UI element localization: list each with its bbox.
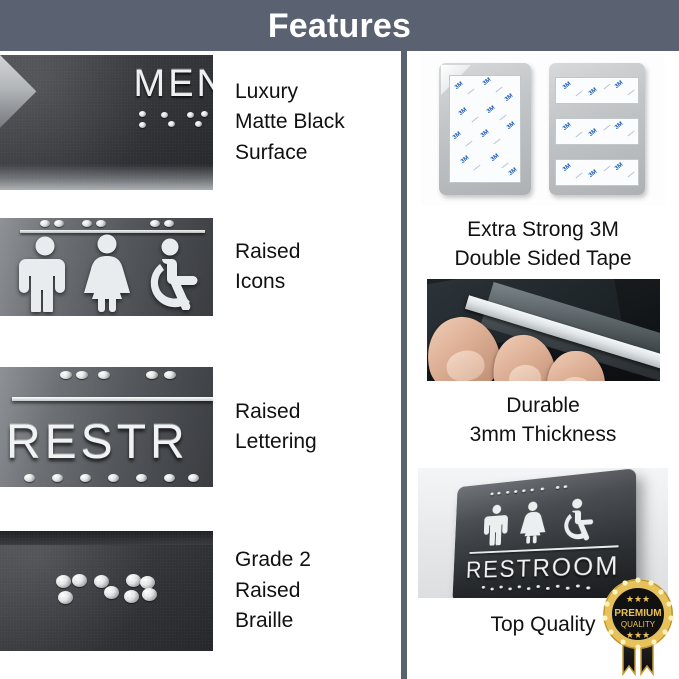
sign-divider-line [20,230,205,233]
caption-line: Double Sided Tape [407,244,679,273]
fingernail [444,347,487,381]
feature-label-line: Braille [235,606,311,636]
sign-divider-line [12,397,213,401]
tape-sheet: 3M 3M 3M 3M 3M 3M 3M 3M 3M 3M 3M [449,75,521,183]
feature-label-grade2-braille: Grade 2 Raised Braille [235,545,311,636]
feature-label-line: Matte Black [235,107,345,137]
badge-stars-top: ★★★ [626,594,650,604]
feature-image-raised-lettering: RESTR [0,367,213,487]
tape-brand-label: 3M [562,122,572,132]
sign-top-edge [0,531,213,545]
caption-line: 3mm Thickness [407,420,679,449]
feature-image-thickness [427,279,660,381]
tape-brand-label: 3M [504,93,514,103]
tape-brand-label: 3M [490,153,500,163]
sign-lettering-restroom: RESTROOM [465,551,619,584]
feature-label-raised-icons: Raised Icons [235,237,300,298]
badge-line-1: PREMIUM [614,608,661,619]
feature-label-line: Luxury [235,77,345,107]
left-feature-column: MEN Luxury Matte Black Surface [0,51,401,679]
tape-brand-label: 3M [588,128,598,138]
page-title: Features [268,9,411,43]
braille-dots [40,218,190,228]
sign-lettering-men: MEN [134,63,213,106]
feature-image-tape: 3M 3M 3M 3M 3M 3M 3M 3M 3M 3M 3M [421,53,665,205]
wheelchair-icon [140,238,206,310]
feature-label-line: Raised [235,397,317,427]
feature-row-grade2-braille: Grade 2 Raised Braille [0,531,401,651]
tape-brand-label: 3M [614,80,624,90]
badge-line-2: QUALITY [621,620,656,629]
tape-brand-label: 3M [480,129,490,139]
feature-block-thickness: Durable 3mm Thickness [407,279,679,450]
tape-brand-label: 3M [614,162,624,172]
braille-dots [482,583,597,592]
feature-image-grade2-braille [0,531,213,651]
feature-label-line: Lettering [235,427,317,457]
feature-caption-tape: Extra Strong 3M Double Sided Tape [407,215,679,274]
tape-brand-label: 3M [588,169,598,179]
tape-brand-label: 3M [454,81,464,91]
feature-label-line: Raised [235,237,300,267]
tape-brand-label: 3M [506,121,516,131]
tape-brand-label: 3M [588,87,598,97]
man-icon [14,236,76,312]
adhesive-plate-strips: 3M 3M 3M 3M 3M 3M 3M 3M [549,63,645,195]
caption-line: Extra Strong 3M [407,215,679,244]
feature-label-line: Icons [235,267,300,297]
tape-brand-label: 3M [562,163,572,173]
feature-row-raised-icons: Raised Icons [0,218,401,316]
premium-quality-badge: ★★★ PREMIUM QUALITY ★★★ [599,574,677,678]
tape-brand-label: 3M [614,121,624,131]
feature-row-raised-lettering: RESTR Raised Lettering [0,367,401,487]
braille-dots [137,111,207,133]
braille-dots [56,573,161,605]
feature-label-line: Raised [235,576,311,606]
caption-line: Durable [407,391,679,420]
feature-block-tape: 3M 3M 3M 3M 3M 3M 3M 3M 3M 3M 3M [407,53,679,274]
woman-icon [76,234,138,312]
feature-row-matte-surface: MEN Luxury Matte Black Surface [0,55,401,190]
feature-image-raised-icons [0,218,213,316]
bevel-edge [0,55,36,134]
feature-label-matte-surface: Luxury Matte Black Surface [235,77,345,168]
feature-image-matte-surface: MEN [0,55,213,190]
tape-brand-label: 3M [458,107,468,117]
feature-label-line: Surface [235,138,345,168]
tape-brand-label: 3M [460,155,470,165]
tape-strip: 3M 3M 3M [555,118,639,145]
tape-brand-label: 3M [452,131,462,141]
feature-label-raised-lettering: Raised Lettering [235,397,317,458]
tape-brand-label: 3M [486,105,496,115]
tape-strip: 3M 3M 3M [555,159,639,186]
badge-stars-bottom: ★★★ [626,630,650,640]
surface-sheen [0,164,213,190]
sign-lettering-restroom: RESTR [6,415,189,470]
feature-caption-thickness: Durable 3mm Thickness [407,391,679,450]
sign-pictograms [477,493,611,546]
fingernail [507,364,542,381]
page-header: Features [0,0,679,51]
tape-brand-label: 3M [482,77,492,87]
tape-brand-label: 3M [562,81,572,91]
adhesive-plate-full: 3M 3M 3M 3M 3M 3M 3M 3M 3M 3M 3M [439,63,531,195]
tape-brand-label: 3M [508,167,518,177]
tape-strip: 3M 3M 3M [555,77,639,104]
braille-dots [24,472,199,484]
fingernail [560,377,590,381]
feature-label-line: Grade 2 [235,545,311,575]
braille-dots [60,371,190,383]
